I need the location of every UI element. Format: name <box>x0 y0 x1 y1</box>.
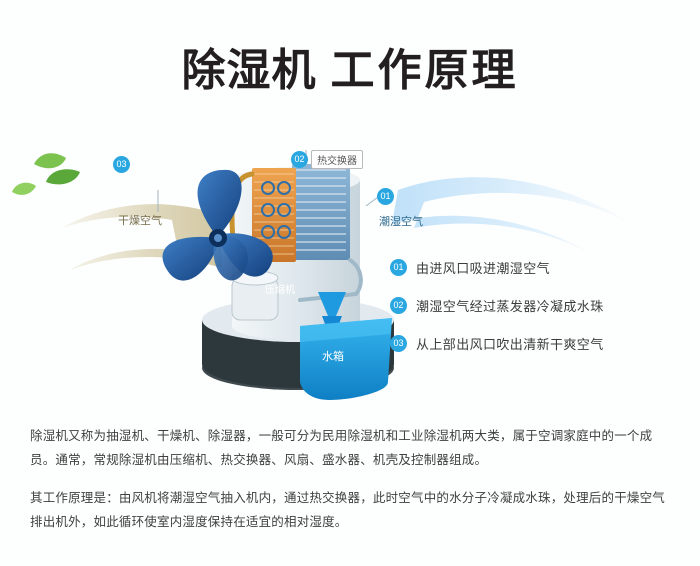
evaporator-coil <box>292 164 350 260</box>
legend-list: 01 由进风口吸进潮湿空气 02 潮湿空气经过蒸发器冷凝成水珠 03 从上部出风… <box>390 258 690 372</box>
page-title: 除湿机工作原理 <box>0 34 700 98</box>
page-root: 除湿机工作原理 <box>0 0 700 566</box>
description-paragraph-1: 除湿机又称为抽湿机、干燥机、除湿器，一般可分为民用除湿机和工业除湿机两大类，属于… <box>30 424 675 472</box>
humid-air-label: 潮湿空气 <box>379 213 423 229</box>
legend-item-text: 潮湿空气经过蒸发器冷凝成水珠 <box>416 296 604 315</box>
water-tank-label: 水箱 <box>322 348 344 364</box>
description-paragraph-2: 其工作原理是：由风机将潮湿空气抽入机内，通过热交换器，此时空气中的水分子冷凝成水… <box>30 486 675 534</box>
dry-air-badge-wrap: 03 <box>113 156 130 173</box>
legend-item-text: 从上部出风口吹出清新干爽空气 <box>416 334 604 353</box>
legend-item: 02 潮湿空气经过蒸发器冷凝成水珠 <box>390 296 690 315</box>
badge-03: 03 <box>390 335 407 352</box>
description: 除湿机又称为抽湿机、干燥机、除湿器，一般可分为民用除湿机和工业除湿机两大类，属于… <box>30 424 675 534</box>
humid-air-flow-icon <box>392 177 628 254</box>
humid-air-wrap: 01 <box>377 188 394 205</box>
page-title-part1: 除湿机 <box>182 46 317 95</box>
legend-item: 01 由进风口吸进潮湿空气 <box>390 258 690 277</box>
legend-item-text: 由进风口吸进潮湿空气 <box>416 258 550 277</box>
badge-02: 02 <box>390 297 407 314</box>
legend-item: 03 从上部出风口吹出清新干爽空气 <box>390 334 690 353</box>
heat-exchanger-wrap: 02 热交换器 <box>291 150 363 169</box>
leaf-icon <box>12 153 80 195</box>
page-title-part2: 工作原理 <box>331 46 519 95</box>
badge-01-diagram: 01 <box>377 188 394 205</box>
dry-air-label: 干燥空气 <box>118 212 162 228</box>
compressor-label: 压缩机 <box>265 281 295 296</box>
badge-02-diagram: 02 <box>291 151 308 168</box>
water-tank <box>300 318 392 400</box>
badge-01: 01 <box>390 259 407 276</box>
badge-03-diagram: 03 <box>113 156 130 173</box>
heat-exchanger-label: 热交换器 <box>311 150 363 169</box>
